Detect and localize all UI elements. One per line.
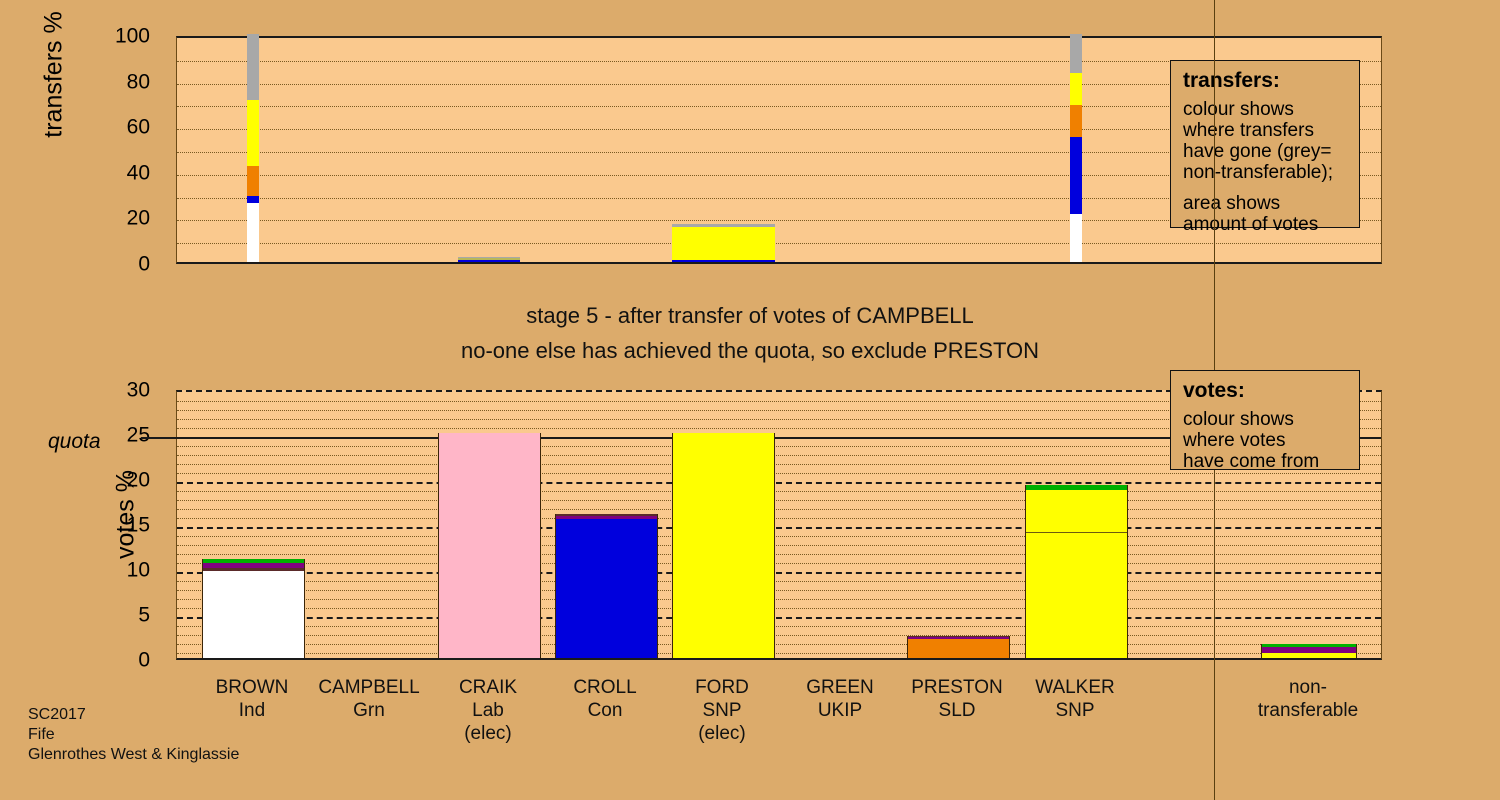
votes-legend-line-1: colour shows bbox=[1183, 409, 1347, 430]
votes-bar-preston bbox=[907, 636, 1010, 659]
transfer-segment-orange bbox=[1070, 105, 1082, 137]
votes-legend-line-2: where votes bbox=[1183, 430, 1347, 451]
votes-segment-maroon bbox=[908, 636, 1009, 637]
x-label-note: (elec) bbox=[408, 722, 568, 745]
votes-bar-non-transferable bbox=[1261, 644, 1357, 658]
votes-tick-10: 10 bbox=[127, 560, 150, 581]
gridline-minor bbox=[177, 653, 1381, 654]
footer-line-3: Glenrothes West & Kinglassie bbox=[28, 745, 239, 765]
footer-line-2: Fife bbox=[28, 725, 239, 745]
transfers-tick-80: 80 bbox=[127, 71, 150, 92]
chart-page: transfers % 020406080100 transfers: colo… bbox=[0, 0, 1500, 800]
transfer-bar-walker bbox=[1070, 34, 1082, 262]
x-label-non: non-transferable bbox=[1228, 676, 1388, 722]
votes-segment-yellow-own bbox=[1026, 533, 1127, 658]
transfer-segment-yellow bbox=[1070, 73, 1082, 105]
votes-bar-ford bbox=[672, 433, 775, 658]
footer-line-1: SC2017 bbox=[28, 705, 239, 725]
x-label-walker: WALKERSNP bbox=[995, 676, 1155, 722]
gridline-minor bbox=[177, 635, 1381, 636]
transfers-axis-title: transfers % bbox=[40, 0, 69, 185]
gridline-minor bbox=[177, 626, 1381, 627]
votes-segment-yellow bbox=[1262, 653, 1356, 658]
votes-legend-title: votes: bbox=[1183, 379, 1347, 403]
votes-tick-30: 30 bbox=[127, 380, 150, 401]
transfers-legend-line-4: non-transferable); bbox=[1183, 162, 1347, 183]
transfers-legend-line-5: area shows bbox=[1183, 193, 1347, 214]
votes-tick-15: 15 bbox=[127, 515, 150, 536]
transfers-legend-line-3: have gone (grey= bbox=[1183, 141, 1347, 162]
gridline-minor bbox=[177, 599, 1381, 600]
x-label-note: (elec) bbox=[642, 722, 802, 745]
votes-tick-0: 0 bbox=[138, 650, 150, 671]
transfer-segment-blue bbox=[1070, 137, 1082, 215]
transfer-segment-grey-non-transferable bbox=[458, 257, 520, 258]
votes-segment-yellow-own bbox=[673, 433, 774, 658]
votes-y-tick-labels: 051015202530 bbox=[98, 380, 150, 670]
transfer-segment-grey-non-transferable bbox=[247, 34, 259, 100]
votes-segment-maroon bbox=[203, 568, 304, 571]
votes-bar-walker bbox=[1025, 485, 1128, 658]
transfers-legend-title: transfers: bbox=[1183, 69, 1347, 93]
transfer-bar-craik bbox=[458, 257, 520, 262]
transfers-tick-100: 100 bbox=[115, 26, 150, 47]
gridline-minor bbox=[177, 509, 1381, 510]
transfers-y-tick-labels: 020406080100 bbox=[98, 26, 150, 274]
transfers-legend: transfers: colour shows where transfers … bbox=[1170, 60, 1360, 228]
transfers-legend-line-2: where transfers bbox=[1183, 120, 1347, 141]
gridline-minor bbox=[177, 473, 1381, 474]
gridline-major bbox=[177, 482, 1381, 484]
transfers-tick-60: 60 bbox=[127, 117, 150, 138]
votes-bar-croll bbox=[555, 514, 658, 658]
votes-legend: votes: colour shows where votes have com… bbox=[1170, 370, 1360, 470]
votes-internal-divider bbox=[1026, 532, 1127, 533]
transfer-segment-grey-non-transferable bbox=[672, 224, 775, 226]
transfers-tick-20: 20 bbox=[127, 208, 150, 229]
votes-segment-green bbox=[203, 559, 304, 563]
x-label-party: SNP bbox=[995, 699, 1155, 722]
transfer-segment-blue bbox=[247, 196, 259, 203]
votes-segment-orange-own bbox=[908, 639, 1009, 658]
transfer-segment-yellow bbox=[247, 100, 259, 166]
votes-bar-brown bbox=[202, 559, 305, 658]
gridline-minor bbox=[177, 554, 1381, 555]
transfer-segment-grey-non-transferable bbox=[1070, 34, 1082, 73]
votes-segment-green bbox=[1262, 644, 1356, 648]
gridline-minor bbox=[177, 500, 1381, 501]
transfer-bar-brown bbox=[247, 34, 259, 262]
stage-subtitle: no-one else has achieved the quota, so e… bbox=[0, 338, 1500, 364]
transfer-bar-ford bbox=[672, 224, 775, 262]
gridline-minor bbox=[177, 536, 1381, 537]
transfer-segment-orange bbox=[247, 166, 259, 196]
votes-segment-maroon bbox=[556, 514, 657, 516]
transfer-segment-white bbox=[1070, 214, 1082, 262]
transfer-segment-blue bbox=[458, 260, 520, 262]
gridline bbox=[177, 243, 1381, 244]
transfer-segment-olive bbox=[458, 258, 520, 260]
votes-segment-purple bbox=[556, 516, 657, 519]
gridline-major bbox=[177, 572, 1381, 574]
gridline-minor bbox=[177, 518, 1381, 519]
votes-segment-pink-own bbox=[439, 433, 540, 658]
gridline-minor bbox=[177, 563, 1381, 564]
gridline-minor bbox=[177, 491, 1381, 492]
votes-tick-5: 5 bbox=[138, 605, 150, 626]
votes-bar-craik bbox=[438, 433, 541, 658]
transfers-tick-0: 0 bbox=[138, 254, 150, 275]
footer-caption: SC2017 Fife Glenrothes West & Kinglassie bbox=[28, 705, 239, 765]
transfers-legend-line-6: amount of votes bbox=[1183, 214, 1347, 235]
votes-segment-purple bbox=[203, 563, 304, 568]
gridline-minor bbox=[177, 545, 1381, 546]
transfers-tick-40: 40 bbox=[127, 162, 150, 183]
votes-segment-yellow-transferred bbox=[1026, 490, 1127, 533]
gridline-major bbox=[177, 527, 1381, 529]
x-label-name: WALKER bbox=[995, 676, 1155, 699]
gridline-minor bbox=[177, 581, 1381, 582]
votes-tick-20: 20 bbox=[127, 470, 150, 491]
quota-label: quota bbox=[48, 430, 101, 454]
x-label-name: non- bbox=[1228, 676, 1388, 699]
gridline-minor bbox=[177, 608, 1381, 609]
transfer-segment-yellow bbox=[672, 227, 775, 261]
votes-segment-purple bbox=[908, 636, 1009, 639]
gridline-minor bbox=[177, 590, 1381, 591]
votes-tick-25: 25 bbox=[127, 425, 150, 446]
stage-title: stage 5 - after transfer of votes of CAM… bbox=[0, 303, 1500, 329]
transfer-segment-blue bbox=[672, 260, 775, 262]
legend-spacer bbox=[1183, 183, 1347, 193]
gridline-minor bbox=[177, 644, 1381, 645]
transfer-segment-white bbox=[247, 203, 259, 262]
votes-segment-blue-own bbox=[556, 519, 657, 658]
votes-legend-line-3: have come from bbox=[1183, 451, 1347, 472]
transfers-legend-line-1: colour shows bbox=[1183, 99, 1347, 120]
votes-segment-purple bbox=[1262, 647, 1356, 652]
votes-segment-white-own bbox=[203, 571, 304, 658]
votes-segment-green bbox=[1026, 485, 1127, 490]
x-label-party: transferable bbox=[1228, 699, 1388, 722]
gridline-major bbox=[177, 617, 1381, 619]
